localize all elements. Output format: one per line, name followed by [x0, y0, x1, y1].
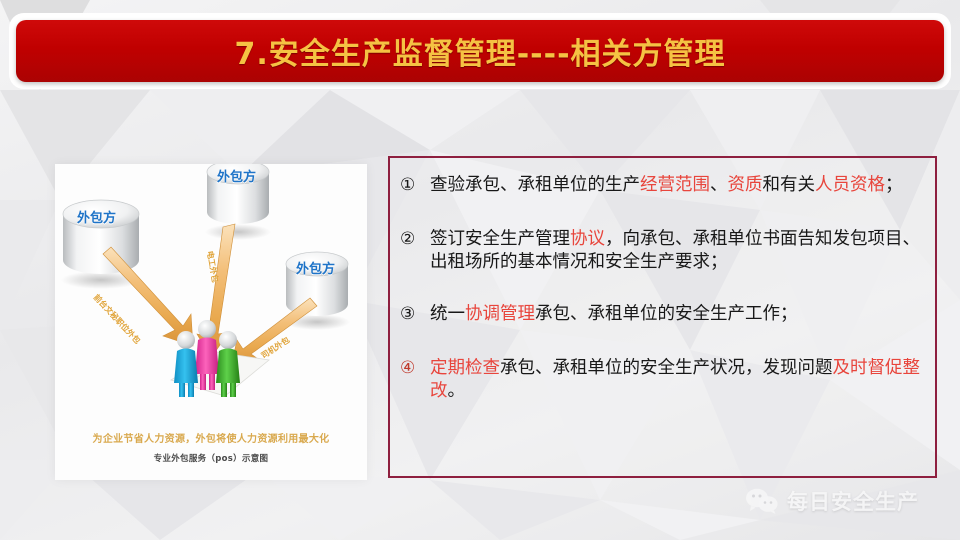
watermark-text: 每日安全生产: [787, 486, 919, 516]
list-item-text: 签订安全生产管理协议，向承包、承租单位书面告知发包项目、出租场所的基本情况和安全…: [430, 228, 923, 274]
slide-canvas: 7.安全生产监督管理----相关方管理: [0, 0, 960, 540]
list-marker: ①: [400, 174, 430, 196]
content-box: ① 查验承包、承租单位的生产经营范围、资质和有关人员资格； ② 签订安全生产管理…: [388, 156, 937, 478]
list-marker: ②: [400, 228, 430, 250]
illustration-caption-main: 为企业节省人力资源，外包将使人力资源利用最大化: [55, 430, 367, 445]
requirement-list: ① 查验承包、承租单位的生产经营范围、资质和有关人员资格； ② 签订安全生产管理…: [390, 158, 935, 476]
arrow-left-to-center: [103, 247, 193, 346]
title-banner: 7.安全生产监督管理----相关方管理: [16, 20, 944, 82]
list-item: ① 查验承包、承租单位的生产经营范围、资质和有关人员资格；: [400, 174, 923, 197]
watermark: 每日安全生产: [745, 486, 919, 516]
illustration-panel: 外包方 外包方 外包方 前台文秘职位外包 电工外包 司机外包 为企业节省人力资源…: [55, 164, 367, 480]
list-marker: ③: [400, 303, 430, 325]
list-item: ③ 统一协调管理承包、承租单位的安全生产工作；: [400, 303, 923, 326]
list-item-text: 查验承包、承租单位的生产经营范围、资质和有关人员资格；: [430, 174, 923, 197]
page-title: 7.安全生产监督管理----相关方管理: [234, 29, 725, 73]
wechat-icon: [745, 487, 779, 515]
cylinder-label-top: 外包方: [217, 166, 256, 185]
cylinder-label-left: 外包方: [77, 207, 116, 226]
list-item-text: 统一协调管理承包、承租单位的安全生产工作；: [430, 303, 923, 326]
list-item: ④ 定期检查承包、承租单位的安全生产状况，发现问题及时督促整改。: [400, 357, 923, 403]
list-item-text: 定期检查承包、承租单位的安全生产状况，发现问题及时督促整改。: [430, 357, 923, 403]
list-item: ② 签订安全生产管理协议，向承包、承租单位书面告知发包项目、出租场所的基本情况和…: [400, 228, 923, 274]
illustration-caption-sub: 专业外包服务（pos）示意图: [55, 452, 367, 464]
list-marker: ④: [400, 357, 430, 379]
cylinder-label-right: 外包方: [296, 258, 335, 277]
